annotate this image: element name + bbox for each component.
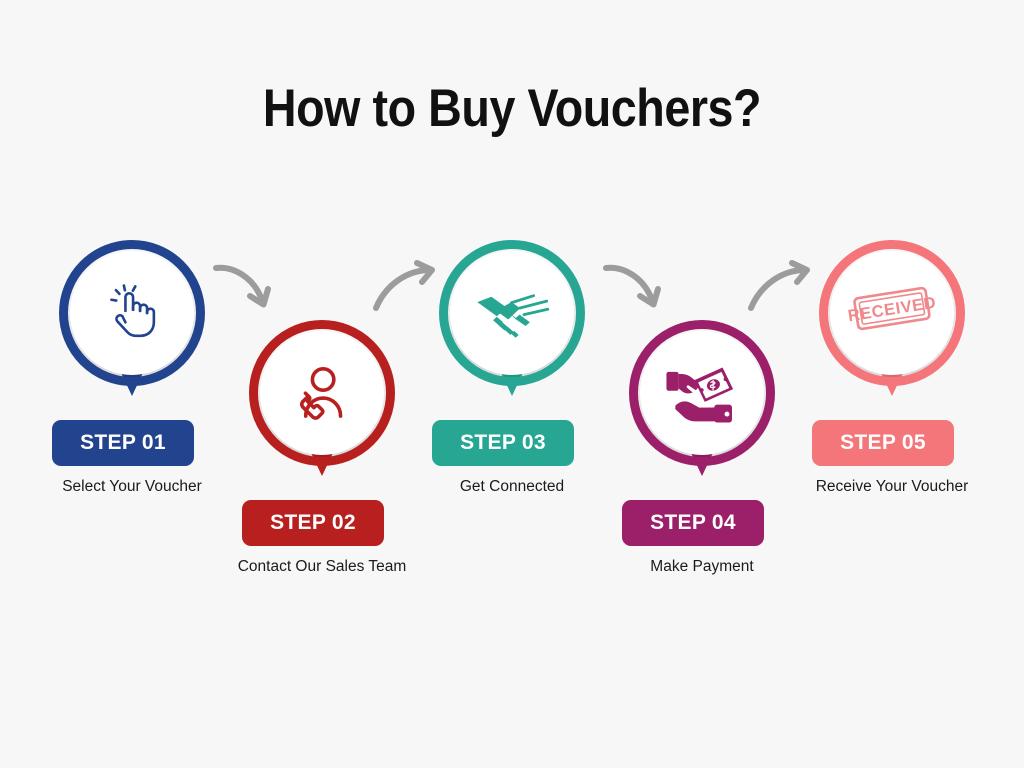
steps-flow-diagram: STEP 01 Select Your Voucher STEP 02 Cont… — [0, 0, 1024, 768]
step-pin-5[interactable]: RECEIVED — [792, 240, 992, 420]
pin-ring-1 — [59, 240, 205, 386]
step-pin-3[interactable] — [412, 240, 612, 420]
step-group-5: RECEIVED STEP 05 Receive Your Voucher — [792, 240, 992, 420]
step-caption-2: Contact Our Sales Team — [222, 558, 422, 576]
step-badge-label-2: STEP 02 — [270, 511, 356, 535]
step-pin-1[interactable] — [32, 240, 232, 420]
step-badge-label-5: STEP 05 — [840, 431, 926, 455]
pin-ring-5 — [819, 240, 965, 386]
step-caption-5: Receive Your Voucher — [792, 478, 992, 496]
step-badge-1[interactable]: STEP 01 — [52, 420, 194, 466]
step-pin-4[interactable] — [602, 320, 802, 500]
arrow-step3-to-step4 — [600, 260, 672, 318]
pin-ring-2 — [249, 320, 395, 466]
step-badge-5[interactable]: STEP 05 — [812, 420, 954, 466]
step-caption-4: Make Payment — [602, 558, 802, 576]
step-caption-3: Get Connected — [412, 478, 612, 496]
step-group-3: STEP 03 Get Connected — [412, 240, 612, 420]
step-badge-label-3: STEP 03 — [460, 431, 546, 455]
pin-ring-4 — [629, 320, 775, 466]
pin-ring-3 — [439, 240, 585, 386]
step-badge-label-4: STEP 04 — [650, 511, 736, 535]
step-group-1: STEP 01 Select Your Voucher — [32, 240, 232, 420]
step-group-4: STEP 04 Make Payment — [602, 320, 802, 500]
arrow-step1-to-step2 — [210, 260, 282, 318]
step-pin-2[interactable] — [222, 320, 422, 500]
step-caption-1: Select Your Voucher — [32, 478, 232, 496]
step-badge-label-1: STEP 01 — [80, 431, 166, 455]
step-badge-2[interactable]: STEP 02 — [242, 500, 384, 546]
step-badge-3[interactable]: STEP 03 — [432, 420, 574, 466]
step-badge-4[interactable]: STEP 04 — [622, 500, 764, 546]
step-group-2: STEP 02 Contact Our Sales Team — [222, 320, 422, 500]
arrow-step4-to-step5 — [745, 260, 817, 318]
arrow-step2-to-step3 — [370, 260, 442, 318]
